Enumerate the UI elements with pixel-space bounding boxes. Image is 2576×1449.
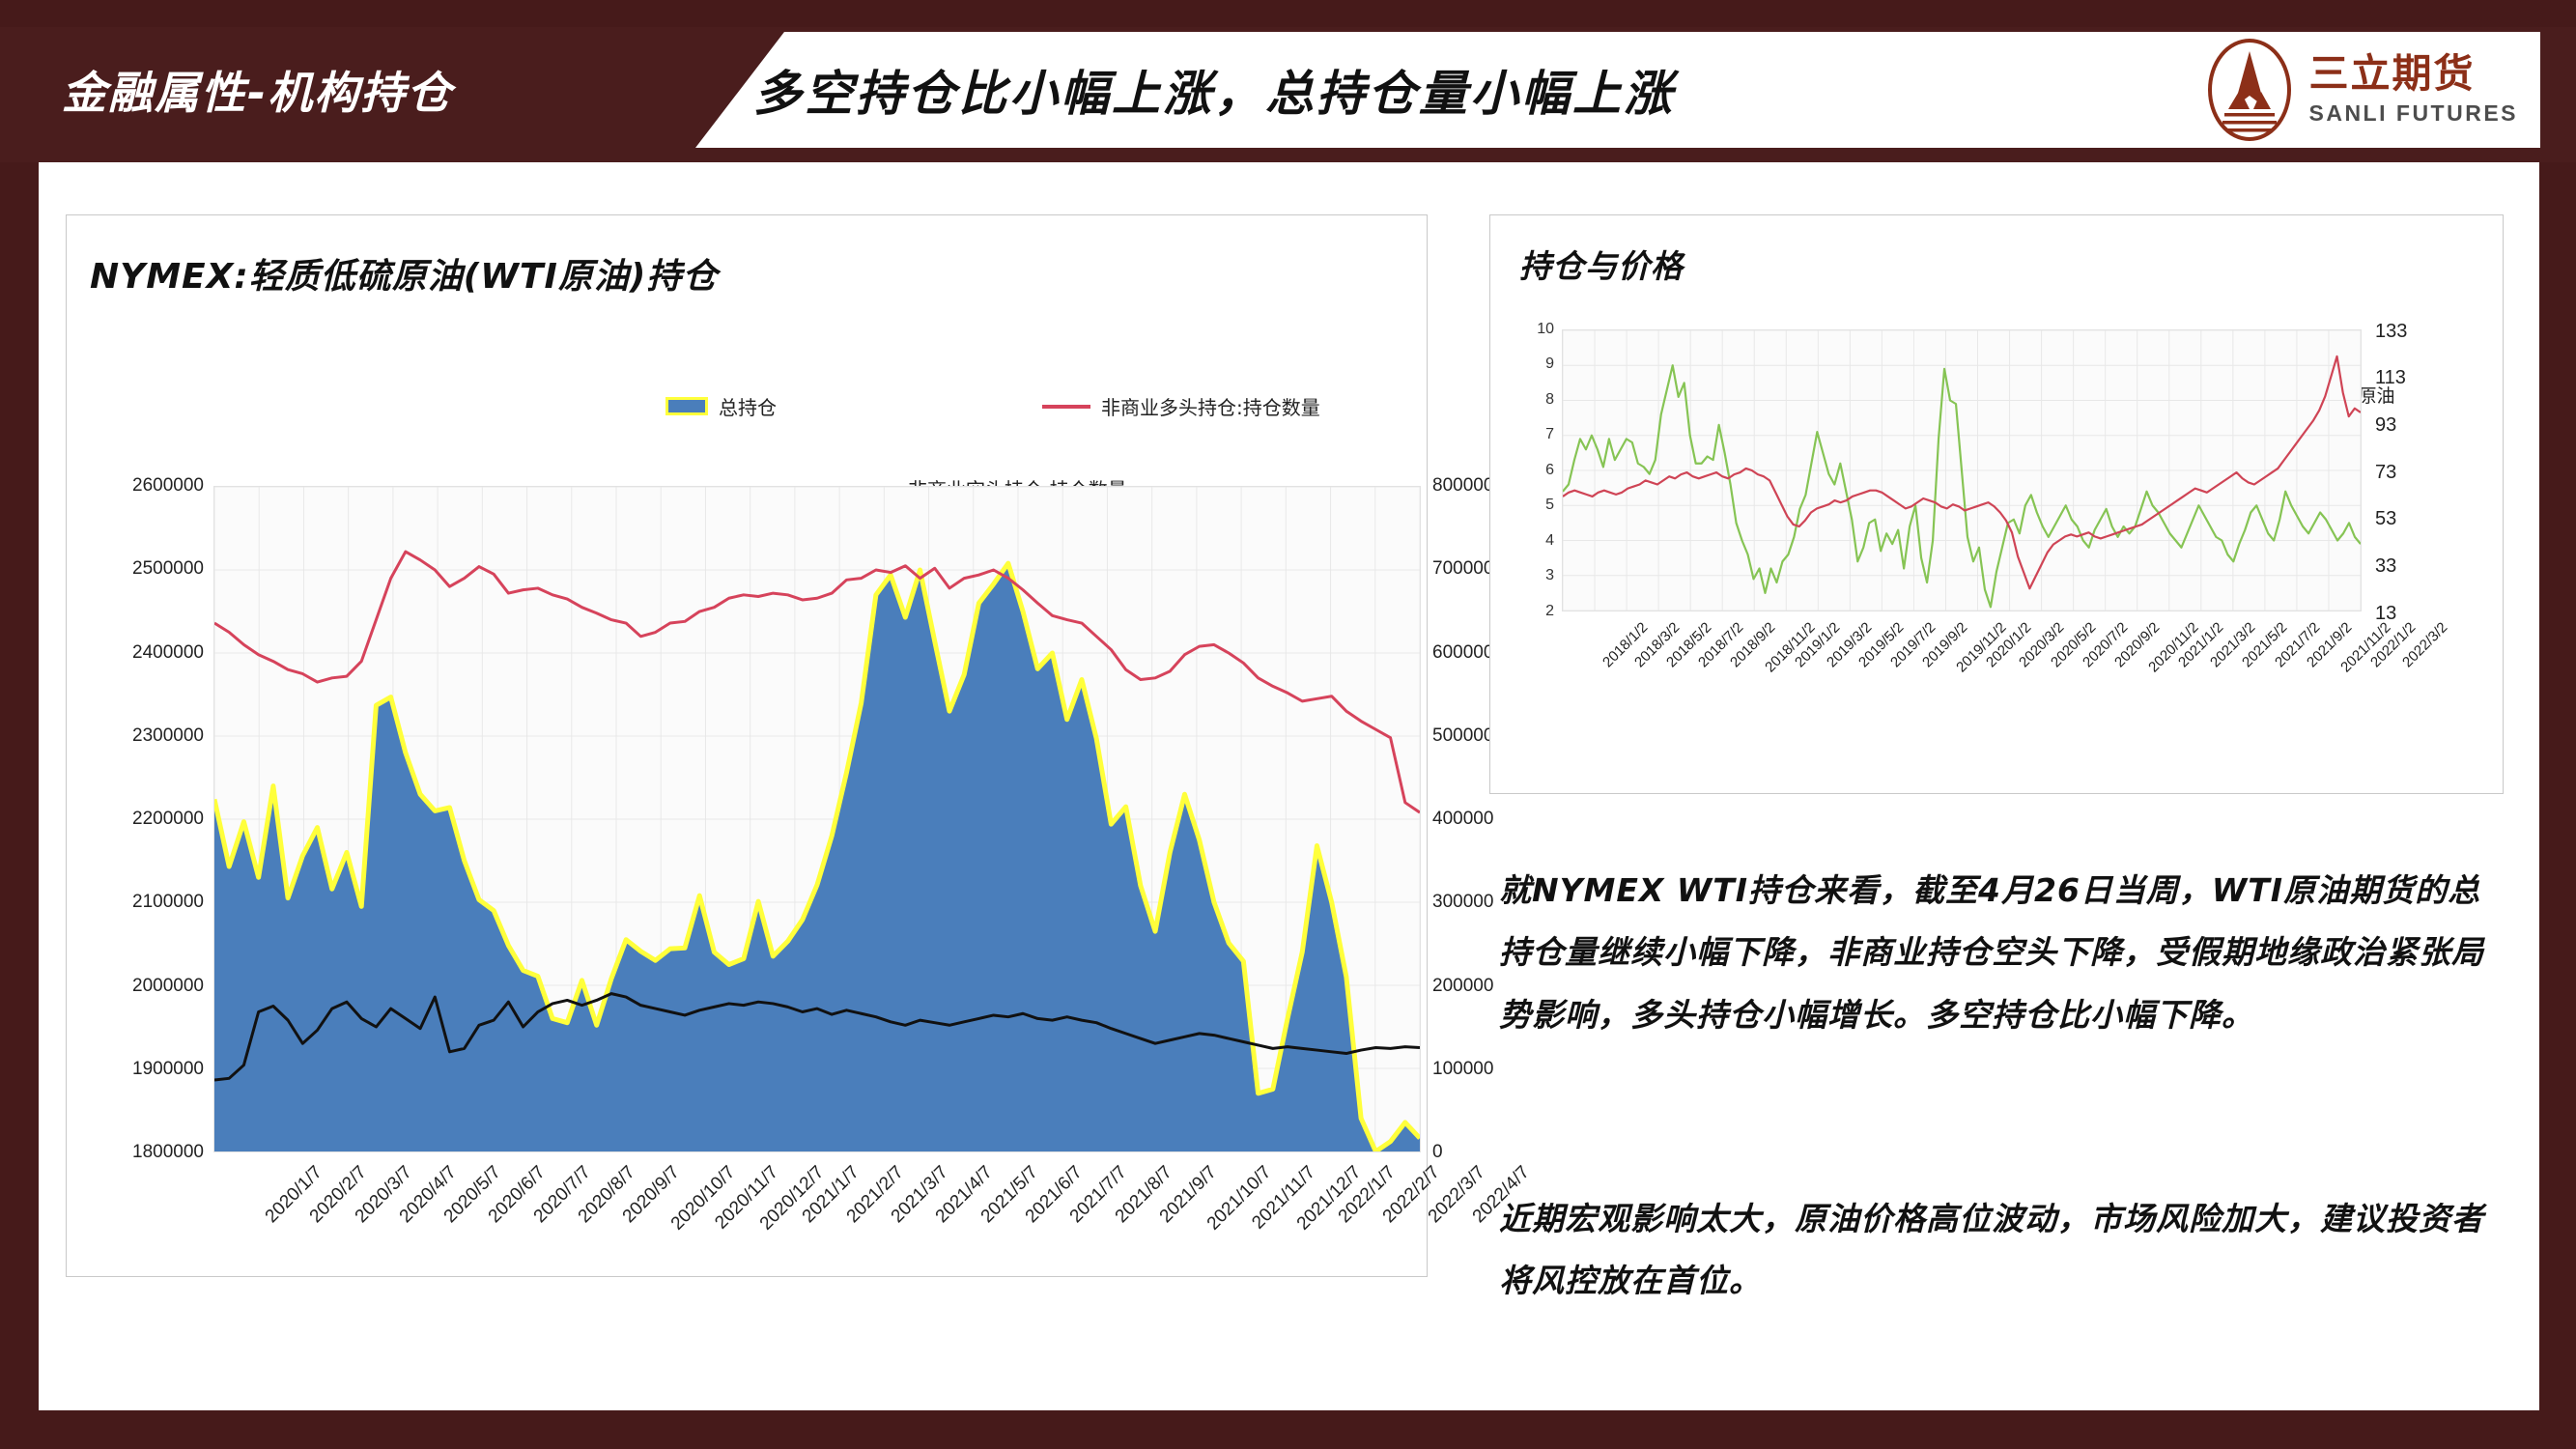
- page-title: 多空持仓比小幅上涨，总持仓量小幅上涨: [753, 32, 1961, 148]
- y-axis-left-tick: 7: [1400, 426, 1554, 443]
- y-axis-left-tick: 9: [1400, 355, 1554, 373]
- y-axis-left-tick: 2600000: [49, 475, 204, 497]
- area-swatch-icon: [665, 397, 708, 415]
- right-plot-area: [1562, 329, 2362, 611]
- right-chart-panel: 持仓与价格 多空持仓比 期货收盘价(活跃合约):NYMEX轻质原油 234567…: [1489, 214, 2504, 794]
- legend-label: 非商业多头持仓:持仓数量: [1101, 392, 1320, 420]
- y-axis-left-tick: 2400000: [49, 642, 204, 664]
- y-axis-left-tick: 2100000: [49, 892, 204, 913]
- y-axis-left-tick: 1900000: [49, 1059, 204, 1080]
- y-axis-right-tick: 73: [2375, 462, 2396, 484]
- y-axis-left-tick: 1800000: [49, 1142, 204, 1163]
- commentary-paragraph-2: 近期宏观影响太大，原油价格高位波动，市场风险加大，建议投资者将风控放在首位。: [1499, 1188, 2494, 1313]
- y-axis-right-tick: 400000: [1432, 809, 1493, 830]
- line-swatch-icon: [1042, 405, 1090, 409]
- y-axis-right-tick: 600000: [1432, 642, 1493, 664]
- y-axis-right-tick: 100000: [1432, 1059, 1493, 1080]
- y-axis-right-tick: 93: [2375, 414, 2396, 437]
- logo-text-cn: 三立期货: [2309, 53, 2519, 95]
- y-axis-left-tick: 10: [1400, 321, 1554, 338]
- left-chart-title: NYMEX:轻质低硫原油(WTI原油)持仓: [90, 248, 718, 298]
- y-axis-left-tick: 2500000: [49, 558, 204, 580]
- y-axis-right-tick: 13: [2375, 603, 2396, 625]
- frame-left-border: [0, 0, 39, 1449]
- y-axis-left-tick: 2300000: [49, 725, 204, 747]
- y-axis-left-tick: 6: [1400, 462, 1554, 479]
- mountain-logo-icon: [2207, 38, 2292, 142]
- left-chart-svg: [214, 487, 1420, 1151]
- legend-item-total-positions: 总持仓: [665, 392, 777, 420]
- y-axis-left-tick: 2000000: [49, 976, 204, 997]
- y-axis-left-tick: 8: [1400, 391, 1554, 409]
- frame-top-border: [0, 0, 2576, 27]
- y-axis-left-tick: 2200000: [49, 809, 204, 830]
- legend-label: 总持仓: [719, 392, 777, 420]
- header-rule: [0, 153, 2576, 162]
- y-axis-right-tick: 53: [2375, 508, 2396, 530]
- y-axis-left-tick: 3: [1400, 567, 1554, 584]
- brand-logo: 三立期货 SANLI FUTURES: [2207, 37, 2519, 143]
- y-axis-right-tick: 300000: [1432, 892, 1493, 913]
- y-axis-right-tick: 0: [1432, 1142, 1443, 1163]
- left-plot-area: [213, 486, 1421, 1152]
- frame-bottom-border: [0, 1410, 2576, 1449]
- y-axis-left-tick: 2: [1400, 603, 1554, 620]
- y-axis-right-tick: 200000: [1432, 976, 1493, 997]
- logo-text-en: SANLI FUTURES: [2309, 100, 2519, 127]
- y-axis-right-tick: 33: [2375, 555, 2396, 578]
- header-section-tag: 金融属性-机构持仓: [41, 32, 717, 148]
- right-chart-title: 持仓与价格: [1519, 241, 1684, 287]
- y-axis-left-tick: 5: [1400, 497, 1554, 514]
- left-chart-panel: NYMEX:轻质低硫原油(WTI原油)持仓 总持仓 非商业多头持仓:持仓数量 非…: [66, 214, 1428, 1277]
- legend-item-noncommercial-long: 非商业多头持仓:持仓数量: [1042, 392, 1320, 420]
- slide-root: 金融属性-机构持仓 多空持仓比小幅上涨，总持仓量小幅上涨 三立期货 SANLI …: [0, 0, 2576, 1449]
- y-axis-right-tick: 500000: [1432, 725, 1493, 747]
- frame-right-border: [2539, 0, 2576, 1449]
- y-axis-left-tick: 4: [1400, 532, 1554, 550]
- y-axis-right-tick: 113: [2375, 367, 2406, 389]
- y-axis-right-tick: 133: [2375, 321, 2407, 343]
- right-chart-svg: [1563, 330, 2361, 611]
- commentary-paragraph-1: 就NYMEX WTI持仓来看，截至4月26日当周，WTI原油期货的总持仓量继续小…: [1499, 860, 2494, 1046]
